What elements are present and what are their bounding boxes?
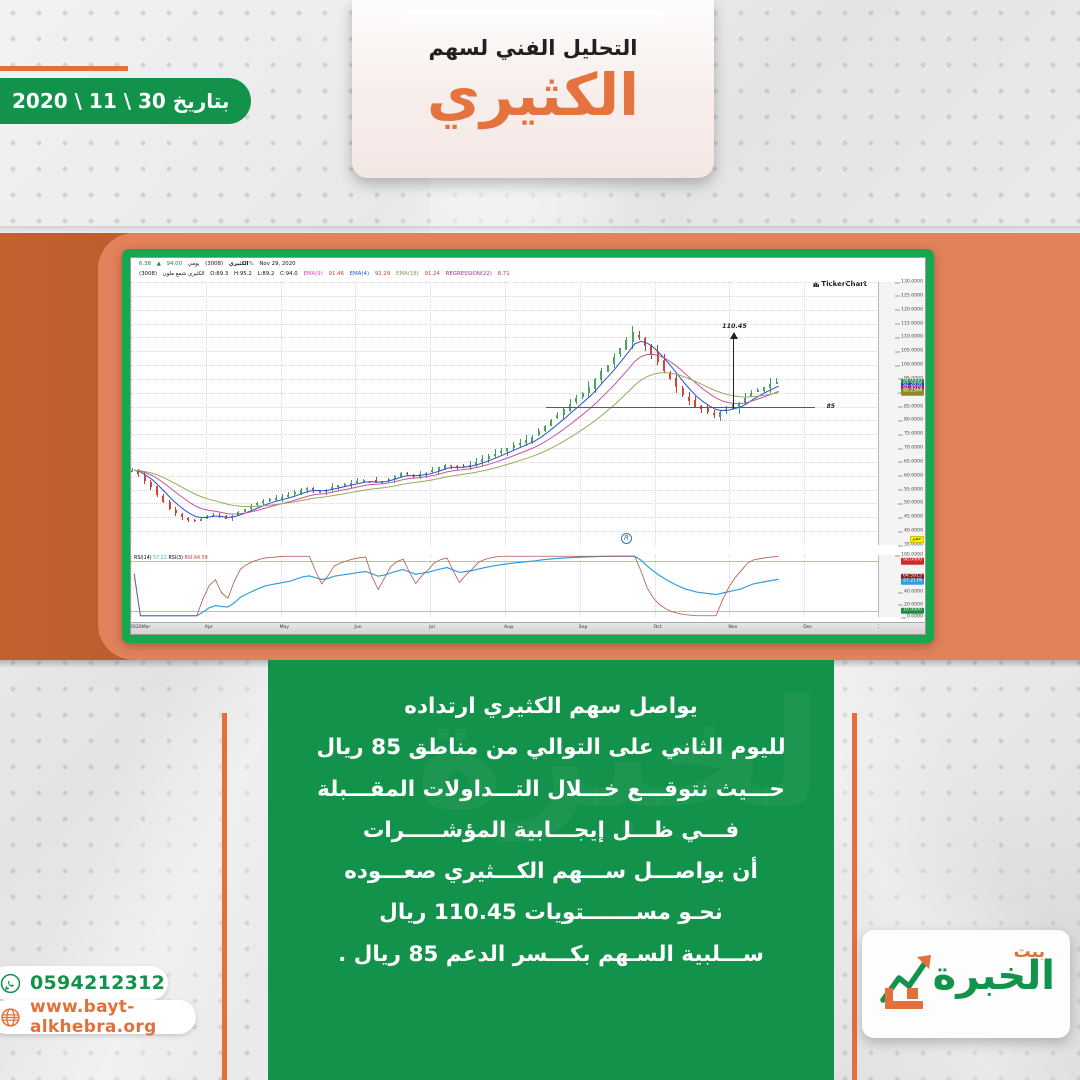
date-rule bbox=[0, 66, 128, 71]
chart-symbol-ar: الكثيري bbox=[229, 261, 249, 267]
page-title: الكثيري bbox=[427, 65, 639, 126]
website-url: www.bayt-alkhebra.org bbox=[30, 997, 176, 1037]
time-tick-label: Jul bbox=[429, 625, 435, 630]
rsi-axis: 100.000040.000020.00000.000090.000064.59… bbox=[878, 555, 925, 617]
rsi14-value: 57.22 bbox=[153, 556, 167, 561]
globe-icon bbox=[0, 1007, 21, 1028]
ohlc-open: O:89.3 bbox=[210, 271, 228, 277]
price-tick-label: 110.0000 bbox=[901, 335, 923, 340]
rsi-tick-label: 0.0000 bbox=[907, 615, 923, 620]
time-tick-label: May bbox=[280, 625, 290, 630]
target-price-label: 110.45 bbox=[722, 322, 747, 330]
time-axis: 2020MarAprMayJunJulAugSepOctNovDec2021Ja… bbox=[131, 622, 925, 634]
ohlc-close: C:94.0 bbox=[280, 271, 298, 277]
rsi-plot-area[interactable] bbox=[131, 555, 879, 617]
brand-logo-card[interactable]: بيت الخبرة bbox=[862, 930, 1070, 1038]
whatsapp-icon bbox=[0, 973, 21, 994]
chart-series-code: (3008) bbox=[139, 271, 157, 277]
price-tick-label: 130.0000 bbox=[901, 280, 923, 285]
rsi-overlay bbox=[131, 555, 879, 617]
whatsapp-number: 0594212312 bbox=[30, 972, 165, 994]
analysis-line-7: ســـلبية السـهم بكـــسر الدعم 85 ريال . bbox=[286, 934, 816, 975]
price-tick-label: 65.0000 bbox=[904, 459, 923, 464]
rsi-line-3 bbox=[134, 556, 779, 616]
rsi-tick-label: 100.0000 bbox=[901, 553, 923, 558]
ema4-label: EMA(4) bbox=[350, 271, 369, 277]
title-card: التحليل الفني لسهم الكثيري bbox=[352, 0, 714, 178]
time-tick-label: 2021Jan bbox=[878, 625, 879, 630]
rsi3-value: RSI:64.59 bbox=[185, 556, 208, 561]
price-marker-ema18: 90.2344 bbox=[901, 389, 924, 396]
ema4-value: 92.29 bbox=[375, 271, 390, 277]
rsi-marker-label: 10.0000 bbox=[901, 608, 924, 615]
price-tick-label: 70.0000 bbox=[904, 446, 923, 451]
rsi-pane: RSI(14) 57.22 RSI(3) RSI:64.59 100.00004… bbox=[131, 555, 925, 617]
price-tick-label: 100.0000 bbox=[901, 363, 923, 368]
analysis-text-panel: الخبرة يواصل سهم الكثيري ارتدادهلليوم ال… bbox=[268, 660, 834, 1080]
whatsapp-contact-pill[interactable]: 0594212312 bbox=[0, 966, 168, 1000]
chart-last-price: 94.00 bbox=[167, 261, 182, 267]
chart-surface[interactable]: الكثيري (3008) يومي 94.00 ▲ 6.38% Nov 29… bbox=[130, 257, 926, 635]
chart-timeframe: يومي bbox=[188, 261, 200, 267]
price-tick-label: 75.0000 bbox=[904, 432, 923, 437]
website-contact-pill[interactable]: www.bayt-alkhebra.org bbox=[0, 1000, 196, 1034]
price-tick-label: 35.0000 bbox=[904, 543, 923, 548]
rsi-marker-label: 57.2178 bbox=[901, 578, 924, 585]
price-tick-label: 85.0000 bbox=[904, 404, 923, 409]
analysis-text: يواصل سهم الكثيري ارتدادهلليوم الثاني عل… bbox=[268, 660, 834, 975]
date-badge: بتاريخ 30 \ 11 \ 2020 bbox=[0, 78, 251, 124]
support-level-label: 85 bbox=[827, 403, 835, 410]
target-arrow-head bbox=[730, 332, 738, 339]
ohlc-high: H:95.2 bbox=[234, 271, 252, 277]
rsi14-label: RSI(14) bbox=[134, 556, 152, 561]
time-tick-label: 2020Mar bbox=[131, 625, 150, 630]
time-axis-ticks: 2020MarAprMayJunJulAugSepOctNovDec2021Ja… bbox=[131, 623, 879, 634]
chart-header-line-1: الكثيري (3008) يومي 94.00 ▲ 6.38% Nov 29… bbox=[135, 261, 921, 267]
rsi-header: RSI(14) 57.22 RSI(3) RSI:64.59 bbox=[134, 556, 208, 561]
time-tick-label: Nov bbox=[728, 625, 737, 630]
price-tick-label: 80.0000 bbox=[904, 418, 923, 423]
ma-line-ema9 bbox=[134, 354, 779, 514]
time-tick-label: Aug bbox=[504, 625, 513, 630]
ema18-label: EMA(18) bbox=[396, 271, 419, 277]
time-tick-label: Jun bbox=[354, 625, 361, 630]
chart-series-label: الكثيري شمع ملون bbox=[163, 271, 205, 277]
price-tick-label: 120.0000 bbox=[901, 307, 923, 312]
rsi3-label: RSI(3) bbox=[168, 556, 183, 561]
chart-date: Nov 29, 2020 bbox=[259, 261, 295, 267]
brand-logo: بيت الخبرة bbox=[873, 942, 1059, 1026]
price-tick-label: 50.0000 bbox=[904, 501, 923, 506]
time-tick-label: Oct bbox=[654, 625, 662, 630]
price-tick-label: 55.0000 bbox=[904, 487, 923, 492]
price-pane: 85110.45R 130.0000125.0000120.0000115.00… bbox=[131, 282, 925, 545]
price-tick-label: 60.0000 bbox=[904, 473, 923, 478]
price-tick-label: 40.0000 bbox=[904, 529, 923, 534]
infographic-canvas: التحليل الفني لسهم الكثيري بتاريخ 30 \ 1… bbox=[0, 0, 1080, 1080]
band-top-shadow bbox=[0, 226, 1080, 233]
chart-header-line-2: الكثيري شمع ملون (3008) O:89.3 H:95.2 L:… bbox=[135, 271, 921, 277]
price-tick-label: 125.0000 bbox=[901, 293, 923, 298]
page-subtitle: التحليل الفني لسهم bbox=[429, 38, 638, 59]
regression-label: REGRESSION(22) bbox=[446, 271, 492, 277]
chart-change-arrow-icon: ▲ bbox=[157, 261, 161, 267]
analysis-line-5: أن يواصـــل ســـهم الكـــثيري صعـــوده bbox=[286, 851, 816, 892]
analysis-line-2: لليوم الثاني على التوالي من مناطق 85 ريا… bbox=[286, 727, 816, 768]
ema9-value: 91.46 bbox=[329, 271, 344, 277]
price-plot-area[interactable]: 85110.45R bbox=[131, 282, 879, 545]
price-tick-label: 105.0000 bbox=[901, 349, 923, 354]
regression-value: 8.71 bbox=[498, 271, 510, 277]
analysis-line-6: نحـو مســـــــتويات 110.45 ريال bbox=[286, 892, 816, 933]
analysis-line-4: فـــي ظـــل إيجـــابية المؤشـــــرات bbox=[286, 810, 816, 851]
price-axis: 130.0000125.0000120.0000115.0000110.0000… bbox=[878, 282, 925, 545]
ohlc-low: L:89.2 bbox=[258, 271, 275, 277]
analysis-line-3: حـــيث نتوقـــع خـــلال التـــداولات الم… bbox=[286, 769, 816, 810]
regression-marker-icon: R bbox=[621, 533, 632, 544]
volume-tag: حجم bbox=[910, 536, 924, 543]
moving-average-overlay bbox=[131, 282, 879, 545]
ma-line-ema18 bbox=[134, 373, 779, 507]
brand-word-main: الخبرة bbox=[933, 956, 1055, 996]
time-tick-label: Apr bbox=[205, 625, 213, 630]
accent-bar-right bbox=[852, 713, 857, 1080]
target-arrow-shaft bbox=[733, 336, 734, 409]
accent-bar-left bbox=[222, 713, 227, 1080]
time-tick-label: Dec bbox=[803, 625, 812, 630]
time-tick-label: Sep bbox=[579, 625, 588, 630]
rsi-tick-label: 20.0000 bbox=[904, 602, 923, 607]
chart-frame: الكثيري (3008) يومي 94.00 ▲ 6.38% Nov 29… bbox=[122, 249, 934, 643]
ema9-label: EMA(9) bbox=[303, 271, 322, 277]
chart-band: الكثيري (3008) يومي 94.00 ▲ 6.38% Nov 29… bbox=[0, 233, 1080, 660]
support-line bbox=[546, 407, 815, 408]
rsi-tick-label: 40.0000 bbox=[904, 590, 923, 595]
analysis-line-1: يواصل سهم الكثيري ارتداده bbox=[286, 686, 816, 727]
price-tick-label: 45.0000 bbox=[904, 515, 923, 520]
ema18-value: 91.24 bbox=[425, 271, 440, 277]
chart-symbol-code: (3008) bbox=[205, 261, 223, 267]
rsi-marker-label: 90.0000 bbox=[901, 558, 924, 565]
ma-line-ema4 bbox=[134, 341, 779, 517]
rsi-line-14 bbox=[134, 556, 779, 616]
price-tick-label: 115.0000 bbox=[901, 321, 923, 326]
